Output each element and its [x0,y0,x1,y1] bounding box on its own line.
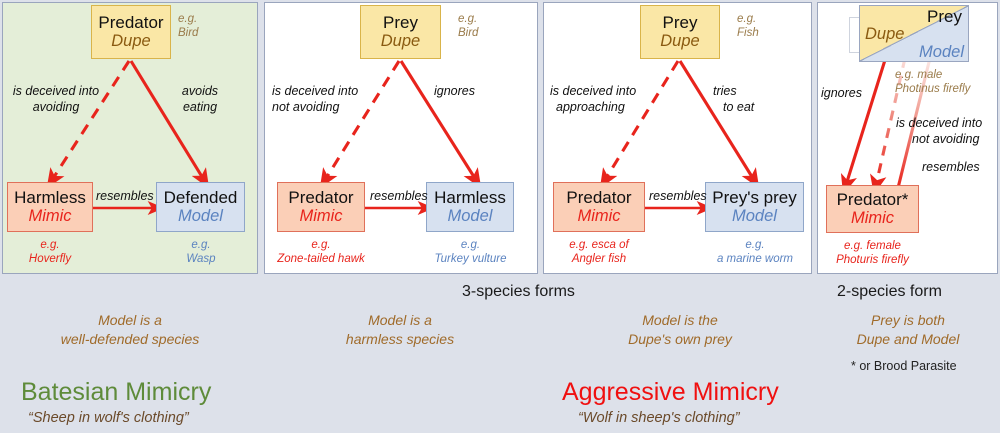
node-tag: Dupe [660,33,699,50]
node-role: Harmless [14,189,86,206]
node-role: Predator [566,189,631,206]
eg-split-p4: e.g. male Photinus firefly [895,68,1000,96]
node-tag-model: Model [919,44,964,61]
node-mimic-p2[interactable]: Predator Mimic [277,182,365,232]
node-role: Predator [288,189,353,206]
node-split-prey-dupe-model-p4[interactable]: Prey Dupe Model [859,5,969,62]
node-tag: Model [178,208,223,225]
subtitle-panel4: Prey is both Dupe and Model [818,311,998,349]
label-deceived-p1: is deceived into avoiding [6,84,106,115]
eg-mimic-p4: e.g. female Photuris firefly [820,239,925,267]
label-resembles-p3: resembles [649,189,707,205]
node-tag: Model [732,208,777,225]
eg-dupe-p1: e.g. Bird [178,12,198,40]
quote-aggressive: “Wolf in sheep's clothing” [578,410,740,426]
label-deceived-p4: is deceived into not avoiding [896,116,982,147]
node-tag: Mimic [299,208,342,225]
node-role: Prey [383,14,418,31]
node-model-p1[interactable]: Defended Model [156,182,245,232]
eg-dupe-p3: e.g. Fish [737,12,759,40]
subtitle-panel1: Model is a well-defended species [20,311,240,349]
eg-model-p3: e.g. a marine worm [700,238,810,266]
node-mimic-p4[interactable]: Predator* Mimic [826,185,919,233]
eg-mimic-p1: e.g. Hoverfly [0,238,100,266]
node-dupe-p2[interactable]: Prey Dupe [360,5,441,59]
node-role: Harmless [434,189,506,206]
node-role: Predator [98,14,163,31]
label-ignores-p4: ignores [821,86,862,102]
mimicry-diagram: Predator Dupe e.g. Bird Harmless Mimic e… [0,0,1000,433]
eg-model-p2: e.g. Turkey vulture [418,238,523,266]
node-tag: Mimic [28,208,71,225]
node-model-p3[interactable]: Prey's prey Model [705,182,804,232]
node-model-p2[interactable]: Harmless Model [426,182,514,232]
label-resembles-p2: resembles [370,189,428,205]
label-ignores-p2: ignores [434,84,475,100]
label-resembles-p4: resembles [922,160,980,176]
label-avoids-eating-p1: avoids eating [155,84,245,115]
subtitle-panel3: Model is the Dupe's own prey [570,311,790,349]
footnote-brood-parasite: * or Brood Parasite [851,359,957,373]
node-role: Prey [663,14,698,31]
label-deceived-p2: is deceived into not avoiding [272,84,358,115]
caption-2-species-form: 2-species form [837,283,942,301]
title-aggressive-mimicry: Aggressive Mimicry [562,378,779,407]
node-mimic-p3[interactable]: Predator Mimic [553,182,645,232]
node-tag: Mimic [851,210,894,227]
node-tag: Mimic [577,208,620,225]
label-tries-to-eat-p3: tries to eat [713,84,754,115]
subtitle-panel2: Model is a harmless species [290,311,510,349]
node-role: Prey's prey [712,189,797,206]
title-batesian-mimicry: Batesian Mimicry [21,378,211,407]
label-resembles-p1: resembles [96,189,154,205]
node-tag-dupe: Dupe [865,26,904,43]
node-tag: Dupe [381,33,420,50]
node-role: Prey [927,8,962,25]
label-deceived-p3: is deceived into approaching [550,84,636,115]
node-tag: Model [448,208,493,225]
node-dupe-p3[interactable]: Prey Dupe [640,5,720,59]
node-tag: Dupe [111,33,150,50]
caption-3-species-forms: 3-species forms [462,283,575,301]
eg-mimic-p2: e.g. Zone-tailed hawk [268,238,374,266]
node-role: Predator* [837,191,909,208]
eg-dupe-p2: e.g. Bird [458,12,478,40]
node-mimic-p1[interactable]: Harmless Mimic [7,182,93,232]
node-role: Defended [164,189,238,206]
quote-batesian: “Sheep in wolf's clothing” [28,410,189,426]
node-dupe-p1[interactable]: Predator Dupe [91,5,171,59]
eg-model-p1: e.g. Wasp [151,238,251,266]
eg-mimic-p3: e.g. esca of Angler fish [548,238,650,266]
